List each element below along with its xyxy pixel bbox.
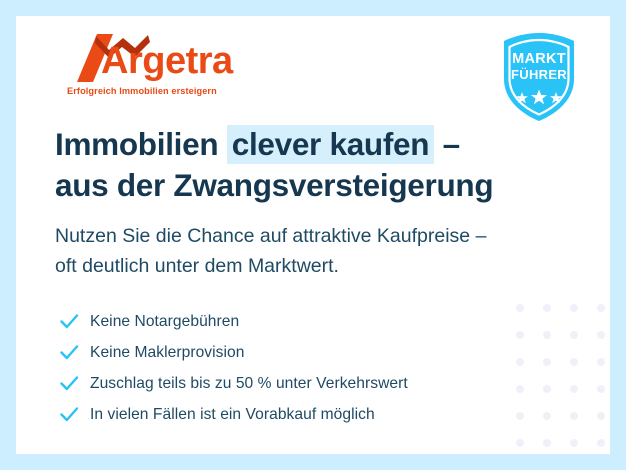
argetra-logo: Argetra Erfolgreich Immobilien ersteiger… bbox=[55, 18, 255, 98]
decorative-dot bbox=[597, 331, 605, 339]
headline-line-1: Immobilien clever kaufen – bbox=[55, 124, 493, 165]
badge-line-2: FÜHRER bbox=[498, 68, 580, 82]
decorative-dot bbox=[597, 412, 605, 420]
decorative-dot bbox=[543, 304, 551, 312]
feature-list: Keine NotargebührenKeine Maklerprovision… bbox=[56, 306, 408, 430]
decorative-dot bbox=[597, 358, 605, 366]
decorative-dot bbox=[570, 358, 578, 366]
decorative-dot bbox=[597, 304, 605, 312]
check-icon bbox=[56, 407, 90, 422]
decorative-dot bbox=[516, 412, 524, 420]
logo-wordmark: Argetra bbox=[101, 42, 233, 80]
decorative-dot bbox=[516, 304, 524, 312]
banner-canvas: Argetra Erfolgreich Immobilien ersteiger… bbox=[16, 16, 610, 454]
headline-text-after: – bbox=[434, 126, 460, 162]
headline-text-before: Immobilien bbox=[55, 126, 227, 162]
market-leader-badge: MARKT FÜHRER bbox=[498, 31, 580, 123]
feature-label: Keine Maklerprovision bbox=[90, 344, 244, 362]
decorative-dot bbox=[543, 331, 551, 339]
decorative-dot bbox=[516, 385, 524, 393]
decorative-dot bbox=[543, 412, 551, 420]
feature-item: Keine Maklerprovision bbox=[56, 337, 408, 368]
three-stars-icon bbox=[513, 89, 565, 105]
logo-tagline: Erfolgreich Immobilien ersteigern bbox=[67, 86, 217, 96]
headline-highlight: clever kaufen bbox=[227, 125, 434, 164]
badge-line-1: MARKT bbox=[498, 52, 580, 68]
decorative-dot bbox=[516, 439, 524, 447]
feature-label: Zuschlag teils bis zu 50 % unter Verkehr… bbox=[90, 375, 408, 393]
promo-banner: Argetra Erfolgreich Immobilien ersteiger… bbox=[0, 0, 626, 470]
decorative-dot bbox=[516, 331, 524, 339]
subheadline-line-1: Nutzen Sie die Chance auf attraktive Kau… bbox=[55, 222, 486, 252]
feature-label: Keine Notargebühren bbox=[90, 313, 239, 331]
feature-item: Keine Notargebühren bbox=[56, 306, 408, 337]
feature-item: In vielen Fällen ist ein Vorabkauf mögli… bbox=[56, 399, 408, 430]
decorative-dot bbox=[597, 439, 605, 447]
headline-line-2: aus der Zwangsversteigerung bbox=[55, 165, 493, 206]
decorative-dot bbox=[597, 385, 605, 393]
check-icon bbox=[56, 314, 90, 329]
decorative-dot bbox=[516, 358, 524, 366]
subheadline: Nutzen Sie die Chance auf attraktive Kau… bbox=[55, 222, 486, 281]
badge-text: MARKT FÜHRER bbox=[498, 52, 580, 82]
decorative-dot bbox=[570, 385, 578, 393]
check-icon bbox=[56, 345, 90, 360]
decorative-dot bbox=[570, 439, 578, 447]
decorative-dot bbox=[543, 439, 551, 447]
subheadline-line-2: oft deutlich unter dem Marktwert. bbox=[55, 252, 486, 282]
headline: Immobilien clever kaufen – aus der Zwang… bbox=[55, 124, 493, 205]
decorative-dot bbox=[543, 358, 551, 366]
check-icon bbox=[56, 376, 90, 391]
decorative-dot-grid bbox=[516, 304, 610, 454]
decorative-dot bbox=[570, 412, 578, 420]
feature-item: Zuschlag teils bis zu 50 % unter Verkehr… bbox=[56, 368, 408, 399]
badge-stars bbox=[498, 89, 580, 110]
feature-label: In vielen Fällen ist ein Vorabkauf mögli… bbox=[90, 406, 375, 424]
decorative-dot bbox=[543, 385, 551, 393]
decorative-dot bbox=[570, 304, 578, 312]
decorative-dot bbox=[570, 331, 578, 339]
